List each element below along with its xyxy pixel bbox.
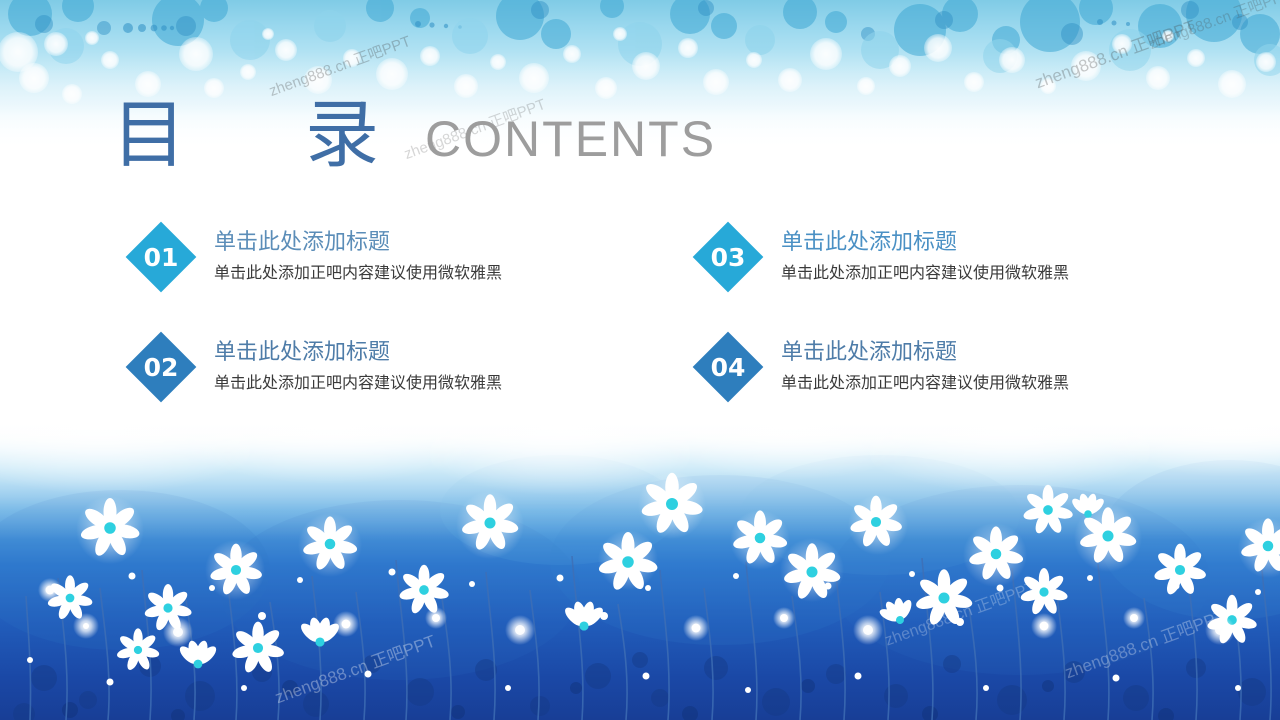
diamond-badge-03[interactable]: 03 <box>695 224 761 290</box>
diamond-badge-01[interactable]: 01 <box>128 224 194 290</box>
item-description-02: 单击此处添加正吧内容建议使用微软雅黑 <box>214 370 502 396</box>
item-description-04: 单击此处添加正吧内容建议使用微软雅黑 <box>781 370 1069 396</box>
item-title-04: 单击此处添加标题 <box>781 338 1069 368</box>
diamond-badge-02[interactable]: 02 <box>128 334 194 400</box>
content-item-03[interactable]: 03 单击此处添加标题 单击此处添加正吧内容建议使用微软雅黑 <box>695 224 1152 290</box>
slide-canvas: 目 录 CONTENTS 01 单击此处添加标题 单击此处添加正吧内容建议使用微… <box>0 0 1280 720</box>
content-item-04[interactable]: 04 单击此处添加标题 单击此处添加正吧内容建议使用微软雅黑 <box>695 334 1152 400</box>
item-number-01: 01 <box>144 245 179 270</box>
item-text-block-02: 单击此处添加标题 单击此处添加正吧内容建议使用微软雅黑 <box>214 338 502 396</box>
page-title: 目 录 CONTENTS <box>112 96 716 174</box>
daisy-field-illustration <box>0 420 1280 720</box>
item-number-02: 02 <box>144 355 179 380</box>
item-text-block-03: 单击此处添加标题 单击此处添加正吧内容建议使用微软雅黑 <box>781 228 1069 286</box>
item-title-01: 单击此处添加标题 <box>214 228 502 258</box>
item-title-02: 单击此处添加标题 <box>214 338 502 368</box>
diamond-badge-04[interactable]: 04 <box>695 334 761 400</box>
item-number-04: 04 <box>711 355 746 380</box>
item-text-block-01: 单击此处添加标题 单击此处添加正吧内容建议使用微软雅黑 <box>214 228 502 286</box>
item-title-03: 单击此处添加标题 <box>781 228 1069 258</box>
content-item-02[interactable]: 02 单击此处添加标题 单击此处添加正吧内容建议使用微软雅黑 <box>128 334 585 400</box>
contents-grid: 01 单击此处添加标题 单击此处添加正吧内容建议使用微软雅黑 03 单击此处添加… <box>128 224 1152 400</box>
content-item-01[interactable]: 01 单击此处添加标题 单击此处添加正吧内容建议使用微软雅黑 <box>128 224 585 290</box>
title-chinese: 目 录 <box>112 96 403 174</box>
item-description-01: 单击此处添加正吧内容建议使用微软雅黑 <box>214 260 502 286</box>
title-english: CONTENTS <box>425 111 716 167</box>
item-description-03: 单击此处添加正吧内容建议使用微软雅黑 <box>781 260 1069 286</box>
bottom-flower-background <box>0 420 1280 720</box>
item-number-03: 03 <box>711 245 746 270</box>
item-text-block-04: 单击此处添加标题 单击此处添加正吧内容建议使用微软雅黑 <box>781 338 1069 396</box>
